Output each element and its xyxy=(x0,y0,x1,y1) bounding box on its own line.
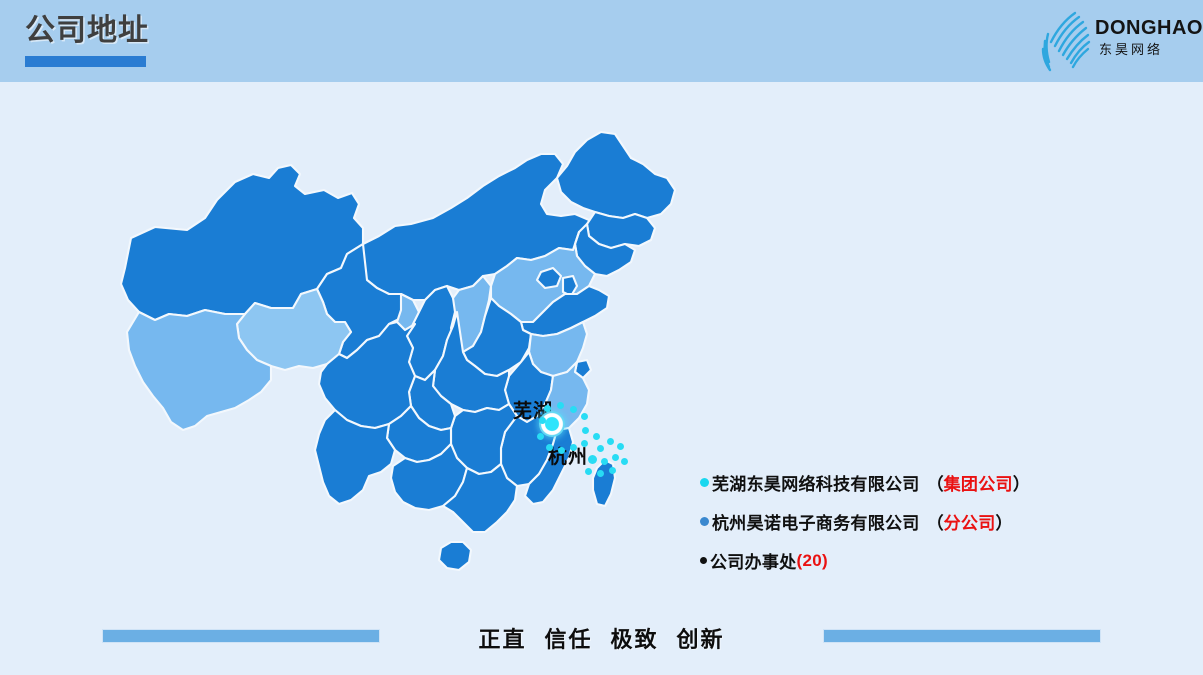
slogan-word: 创新 xyxy=(677,627,725,652)
province-taiwan xyxy=(593,460,615,506)
legend-company-name: 公司办事处 xyxy=(710,548,797,573)
province-hainan xyxy=(439,542,471,570)
logo-text: DONGHAO 东昊网络 xyxy=(1095,18,1193,56)
slide-canvas: 公司地址 DONGHAO 东昊网络 xyxy=(0,0,1203,675)
map-label-wuhu: 芜湖 xyxy=(513,402,553,421)
legend-item-group-company[interactable]: 芜湖东昊网络科技有限公司 （ 集团公司 ） xyxy=(700,463,1170,502)
legend-item-offices[interactable]: 公司办事处 (20) xyxy=(700,541,1170,580)
logo-english-name: DONGHAO xyxy=(1095,18,1193,38)
map-label-hangzhou: 杭州 xyxy=(548,448,588,467)
logo-chinese-name: 东昊网络 xyxy=(1095,43,1193,56)
legend: 芜湖东昊网络科技有限公司 （ 集团公司 ） 杭州昊诺电子商务有限公司 （ 分公司… xyxy=(700,463,1170,580)
legend-close-paren: ） xyxy=(996,509,1013,534)
legend-open-paren: （ xyxy=(927,470,944,495)
legend-close-paren: ） xyxy=(1013,470,1030,495)
slogan-word: 极致 xyxy=(611,627,659,652)
legend-bullet-icon xyxy=(700,557,707,564)
legend-item-branch-company[interactable]: 杭州昊诺电子商务有限公司 （ 分公司 ） xyxy=(700,502,1170,541)
feather-wing-icon xyxy=(1035,8,1103,74)
header-band xyxy=(0,0,1203,82)
title-underline xyxy=(25,56,146,67)
footer-slogan: 正直信任极致创新 xyxy=(0,622,1203,654)
legend-office-count: (20) xyxy=(797,551,828,571)
province-heilongjiang xyxy=(557,132,675,218)
legend-company-name: 杭州昊诺电子商务有限公司 xyxy=(712,509,920,534)
legend-company-name: 芜湖东昊网络科技有限公司 xyxy=(712,470,920,495)
company-logo: DONGHAO 东昊网络 xyxy=(1033,6,1193,76)
page-title: 公司地址 xyxy=(25,16,149,46)
china-map xyxy=(95,108,715,628)
legend-bullet-icon xyxy=(700,478,709,487)
slogan-word: 正直 xyxy=(478,627,526,652)
slogan-word: 信任 xyxy=(544,627,592,652)
legend-company-tag: 分公司 xyxy=(944,509,996,534)
legend-bullet-icon xyxy=(700,517,709,526)
legend-open-paren: （ xyxy=(927,509,944,534)
legend-company-tag: 集团公司 xyxy=(944,470,1013,495)
